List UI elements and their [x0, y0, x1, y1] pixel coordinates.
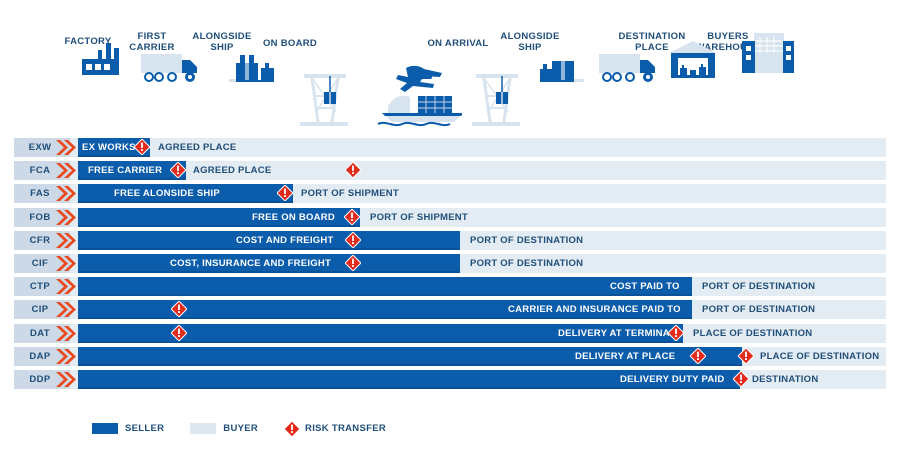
- station-label-text: ON ARRIVAL: [418, 38, 498, 49]
- risk-transfer-icon: [344, 209, 360, 225]
- warehouse-icon: [665, 39, 721, 84]
- double-chevron-icon: [55, 324, 79, 343]
- incoterm-row-cif[interactable]: CIF COST, INSURANCE AND FREIGHTPORT OF D…: [0, 254, 900, 273]
- port-crane-icon-2: [470, 66, 522, 133]
- risk-transfer-icon: [345, 232, 361, 248]
- legend-label: SELLER: [125, 423, 164, 434]
- legend-label: BUYER: [223, 423, 258, 434]
- port-crane-icon: [298, 66, 350, 133]
- risk-transfer-icon: [134, 139, 150, 155]
- buyer-segment-label: AGREED PLACE: [193, 161, 271, 180]
- seller-segment-label: COST PAID TO: [610, 277, 680, 296]
- risk-transfer-icon: [171, 301, 187, 317]
- seller-segment-label: COST AND FREIGHT: [236, 231, 334, 250]
- buyer-segment-label: PORT OF DESTINATION: [702, 277, 815, 296]
- buyer-segment-label: DESTINATION: [752, 370, 818, 389]
- double-chevron-icon: [55, 184, 79, 203]
- incoterm-row-fas[interactable]: FAS FREE ALONSIDE SHIPPORT OF SHIPMENT: [0, 184, 900, 203]
- buyer-segment-label: PORT OF DESTINATION: [702, 300, 815, 319]
- station-label-text: FIRST CARRIER: [112, 31, 192, 53]
- seller-segment-label: CARRIER AND INSURANCE PAID TO: [508, 300, 681, 319]
- seller-segment-label: FREE ALONSIDE SHIP: [114, 184, 220, 203]
- truck-icon-2: [598, 51, 660, 88]
- double-chevron-icon: [55, 138, 79, 157]
- legend-label: RISK TRANSFER: [305, 423, 386, 434]
- buyer-segment-label: PLACE OF DESTINATION: [760, 347, 879, 366]
- incoterm-row-cfr[interactable]: CFR COST AND FREIGHTPORT OF DESTINATION: [0, 231, 900, 250]
- seller-segment-label: DELIVERY AT TERMINAL: [558, 324, 676, 343]
- double-chevron-icon: [55, 277, 79, 296]
- buyer-segment-label: PORT OF DESTINATION: [470, 231, 583, 250]
- cargo-ship-icon: [358, 62, 462, 133]
- double-chevron-icon: [55, 347, 79, 366]
- seller-segment-label: DELIVERY AT PLACE: [575, 347, 675, 366]
- legend-swatch-seller: [92, 423, 118, 434]
- legend-item-risk: RISK TRANSFER: [284, 421, 386, 436]
- risk-transfer-icon: [345, 255, 361, 271]
- pallet-boxes-icon-2: [532, 49, 586, 88]
- station-label-on-board: ON BOARD: [250, 38, 330, 49]
- risk-transfer-icon: [738, 348, 754, 364]
- buyer-segment-label: AGREED PLACE: [158, 138, 236, 157]
- incoterm-row-fob[interactable]: FOB FREE ON BOARDPORT OF SHIPMENT: [0, 208, 900, 227]
- station-label-on-arrival: ON ARRIVAL: [418, 38, 498, 49]
- seller-segment-label: EX WORKS: [82, 138, 136, 157]
- incoterm-row-ctp[interactable]: CTP COST PAID TOPORT OF DESTINATION: [0, 277, 900, 296]
- double-chevron-icon: [55, 161, 79, 180]
- buyer-segment-label: PORT OF DESTINATION: [470, 254, 583, 273]
- incoterm-row-ddp[interactable]: DDP DELIVERY DUTY PAIDDESTINATION: [0, 370, 900, 389]
- incoterm-row-dat[interactable]: DAT DELIVERY AT TERMINALPLACE OF DESTINA…: [0, 324, 900, 343]
- seller-bar: [78, 277, 692, 296]
- incoterm-row-exw[interactable]: EXW EX WORKSAGREED PLACE: [0, 138, 900, 157]
- pallet-boxes-icon: [228, 49, 282, 88]
- risk-transfer-icon: [690, 348, 706, 364]
- risk-transfer-icon: [668, 325, 684, 341]
- buyer-segment-label: PLACE OF DESTINATION: [693, 324, 812, 343]
- risk-transfer-icon: [733, 371, 749, 387]
- legend-item-seller: SELLER: [92, 423, 164, 434]
- legend-swatch-buyer: [190, 423, 216, 434]
- legend: SELLERBUYER RISK TRANSFER: [92, 420, 412, 436]
- incoterm-row-dap[interactable]: DAP DELIVERY AT PLACEPLACE OF DESTINATIO…: [0, 347, 900, 366]
- buyer-segment-label: PORT OF SHIPMENT: [370, 208, 468, 227]
- buyer-segment-label: PORT OF SHIPMENT: [301, 184, 399, 203]
- risk-transfer-icon: [345, 162, 361, 178]
- station-label-first-carrier: FIRST CARRIER: [112, 31, 192, 53]
- double-chevron-icon: [55, 208, 79, 227]
- double-chevron-icon: [55, 370, 79, 389]
- risk-transfer-icon: [170, 162, 186, 178]
- incoterm-row-cip[interactable]: CIP CARRIER AND INSURANCE PAID TOPORT OF…: [0, 300, 900, 319]
- double-chevron-icon: [55, 300, 79, 319]
- risk-transfer-icon: [284, 421, 299, 436]
- office-building-icon: [740, 31, 796, 80]
- incoterm-row-fca[interactable]: FCA FREE CARRIERAGREED PLACE: [0, 161, 900, 180]
- seller-segment-label: FREE CARRIER: [88, 161, 162, 180]
- risk-transfer-icon: [171, 325, 187, 341]
- risk-transfer-icon: [277, 185, 293, 201]
- seller-segment-label: COST, INSURANCE AND FREIGHT: [170, 254, 331, 273]
- seller-segment-label: FREE ON BOARD: [252, 208, 335, 227]
- legend-item-buyer: BUYER: [190, 423, 258, 434]
- incoterms-matrix: EXW EX WORKSAGREED PLACE FCA FREE CARRIE…: [0, 138, 900, 396]
- truck-icon: [140, 51, 202, 88]
- station-label-text: ON BOARD: [250, 38, 330, 49]
- double-chevron-icon: [55, 231, 79, 250]
- seller-segment-label: DELIVERY DUTY PAID: [620, 370, 724, 389]
- double-chevron-icon: [55, 254, 79, 273]
- incoterms-diagram: FACTORY FIRST CARRIER ALONGSIDE SHIP ON …: [0, 0, 900, 470]
